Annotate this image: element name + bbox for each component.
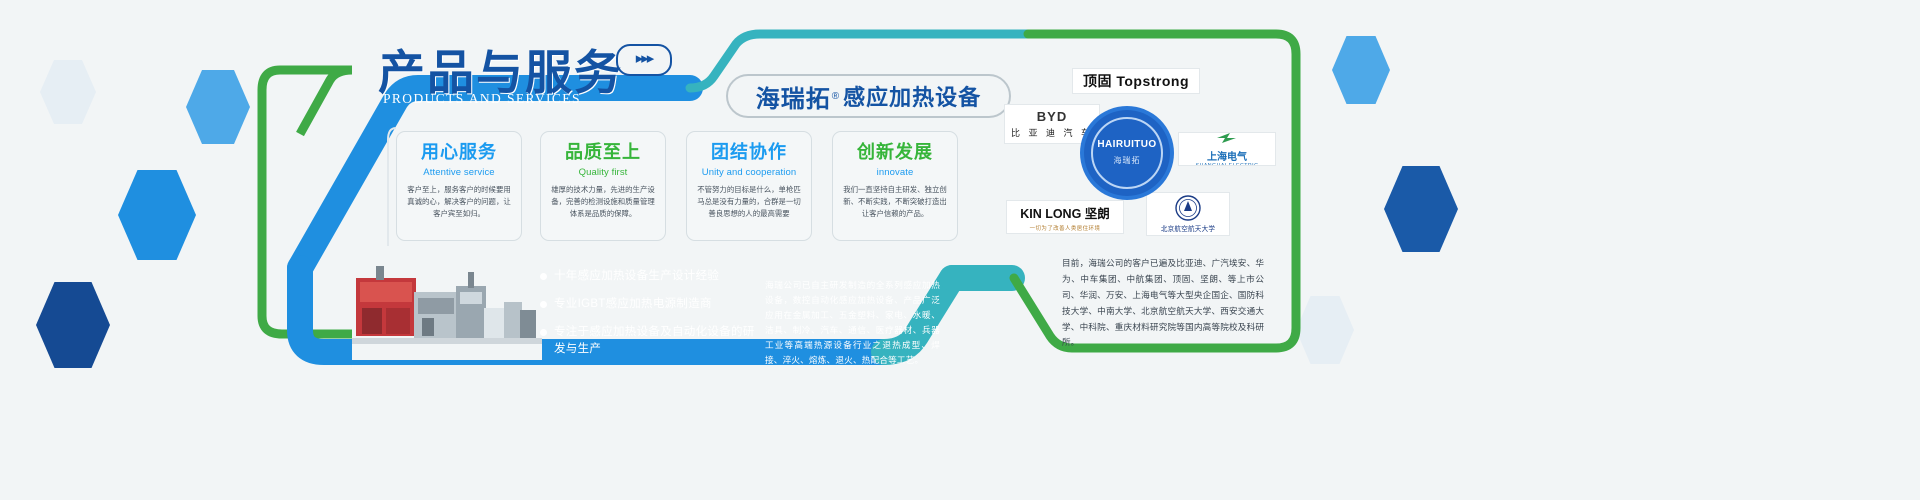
value-card-title: 品质至上 <box>549 143 657 162</box>
value-card-subtitle: Unity and cooperation <box>695 167 803 178</box>
bullet-dot-icon <box>540 301 547 308</box>
machine-photo <box>352 252 542 360</box>
logo-topstrong: 顶固 Topstrong <box>1072 68 1200 94</box>
logo-byd-mark: BYD <box>1011 109 1093 124</box>
value-card-body: 客户至上，服务客户的时候要用真诚的心，解决客户的问题，让客户宾至如归。 <box>405 184 513 220</box>
logo-kinlong-en: KIN LONG 坚朗 <box>1020 203 1110 222</box>
list-item-label: 专业IGBT感应加热电源制造商 <box>554 298 712 310</box>
logo-topstrong-cn: 顶固 <box>1083 73 1112 89</box>
shanghai-electric-mark-icon <box>1216 132 1238 144</box>
registered-mark-icon: ® <box>832 91 839 102</box>
emblem-ring-icon <box>1091 117 1163 189</box>
value-card-4: 创新发展 innovate 我们一直坚持自主研发、独立创新、不断实践，不断突破打… <box>832 131 958 241</box>
logo-shanghai-en: SHANGHAI ELECTRIC <box>1196 163 1259 167</box>
logo-buaa-cn: 北京航空航天大学 <box>1161 223 1215 233</box>
buaa-crest-icon <box>1175 195 1201 221</box>
value-card-body: 不管努力的目标是什么，单枪匹马总是没有力量的，合群是一切善良思想的人的最高需要 <box>695 184 803 220</box>
value-card-body: 我们一直坚持自主研发、独立创新、不断实践，不断突破打造出让客户信赖的产品。 <box>841 184 949 220</box>
value-card-subtitle: Attentive service <box>405 167 513 178</box>
bullet-dot-icon <box>540 273 547 280</box>
value-card-3: 团结协作 Unity and cooperation 不管努力的目标是什么，单枪… <box>686 131 812 241</box>
list-item: 专业IGBT感应加热电源制造商 <box>540 296 755 314</box>
value-card-2: 品质至上 Quality first 雄厚的技术力量，先进的生产设备，完善的检测… <box>540 131 666 241</box>
list-item: 专注于感应加热设备及自动化设备的研发与生产 <box>540 324 755 360</box>
emblem-en: HAIRUITUO <box>1084 139 1170 150</box>
value-card-subtitle: Quality first <box>549 167 657 178</box>
company-description: 海瑞公司已自主研发制造的全系列感应加热设备，数控自动化感应加热设备、产品广泛应用… <box>765 278 940 368</box>
value-card-title: 创新发展 <box>841 143 949 162</box>
bullet-dot-icon <box>540 329 547 336</box>
list-item-label: 十年感应加热设备生产设计经验 <box>554 270 719 282</box>
value-card-title: 团结协作 <box>695 143 803 162</box>
logo-shanghai-cn: 上海电气 <box>1196 148 1259 163</box>
value-card-body: 雄厚的技术力量，先进的生产设备，完善的检测设施和质量管理体系是品质的保障。 <box>549 184 657 220</box>
value-card-title: 用心服务 <box>405 143 513 162</box>
brand-badge: 海瑞拓®感应加热设备 <box>726 74 1011 118</box>
feature-bullet-list: 十年感应加热设备生产设计经验 专业IGBT感应加热电源制造商 专注于感应加热设备… <box>540 268 755 369</box>
list-item: 十年感应加热设备生产设计经验 <box>540 268 755 286</box>
logo-buaa: 北京航空航天大学 <box>1146 192 1230 236</box>
logo-kinlong-slogan: 一切为了改善人类居住环境 <box>1020 224 1110 232</box>
brand-name: 海瑞拓 <box>756 79 831 114</box>
page-subtitle: PRODUCTS AND SERVICES <box>383 91 581 107</box>
value-card-1: 用心服务 Attentive service 客户至上，服务客户的时候要用真诚的… <box>396 131 522 241</box>
logo-byd-cn: 比 亚 迪 汽 车 <box>1011 126 1093 139</box>
list-item-label: 专注于感应加热设备及自动化设备的研发与生产 <box>554 326 755 356</box>
triple-chevron-right-icon: ▸▸▸ <box>616 44 672 76</box>
logo-topstrong-en: Topstrong <box>1116 73 1189 89</box>
logo-kinlong: KIN LONG 坚朗 一切为了改善人类居住环境 <box>1006 200 1124 234</box>
poster-canvas: 产品与服务 ▸▸▸ PRODUCTS AND SERVICES 海瑞拓®感应加热… <box>0 0 1920 500</box>
brand-product: 感应加热设备 <box>843 80 981 112</box>
value-card-subtitle: innovate <box>841 167 949 178</box>
logo-shanghai-electric: 上海电气 SHANGHAI ELECTRIC <box>1178 132 1276 166</box>
hairuituo-emblem: HAIRUITUO 海瑞拓 <box>1084 110 1170 196</box>
emblem-cn: 海瑞拓 <box>1084 155 1170 166</box>
client-list-description: 目前，海瑞公司的客户已遍及比亚迪、广汽埃安、华为、中车集团、中航集团、顶固、坚朗… <box>1062 256 1264 351</box>
